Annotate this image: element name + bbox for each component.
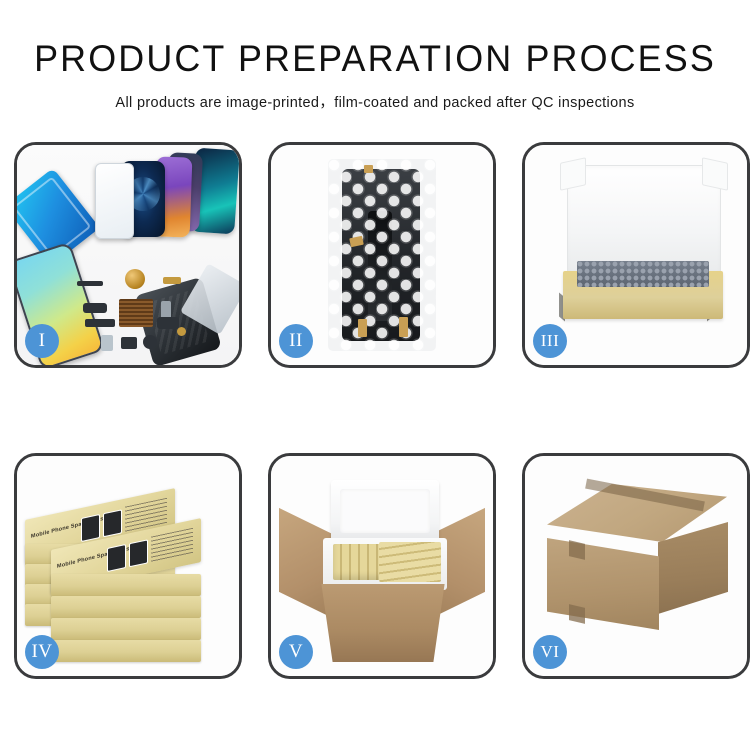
step-badge-3: III bbox=[533, 324, 567, 358]
process-step-grid: I II III bbox=[14, 142, 736, 679]
step-badge-4: IV bbox=[25, 635, 59, 669]
process-step-panel-4: Mobile Phone Spare Parts Mobile Phone Sp… bbox=[14, 453, 242, 679]
retail-box-edge bbox=[51, 596, 201, 618]
step-2-illustration: II bbox=[271, 145, 493, 365]
box-label-spec-lines bbox=[151, 528, 193, 563]
step-4-illustration: Mobile Phone Spare Parts Mobile Phone Sp… bbox=[17, 456, 239, 676]
page-title: PRODUCT PREPARATION PROCESS bbox=[11, 0, 739, 77]
step-1-illustration: I bbox=[17, 145, 239, 365]
step-3-illustration: III bbox=[525, 145, 747, 365]
sim-tray-part-icon bbox=[101, 335, 113, 351]
foam-box-lid-image bbox=[331, 480, 439, 542]
step-badge-5: V bbox=[279, 635, 313, 669]
carton-front-face-image bbox=[547, 538, 659, 630]
page-header: PRODUCT PREPARATION PROCESS All products… bbox=[0, 0, 750, 112]
step-badge-1: I bbox=[25, 324, 59, 358]
process-step-panel-5: V bbox=[268, 453, 496, 679]
home-button-part-icon bbox=[143, 335, 157, 349]
grey-bubble-foam-image bbox=[577, 261, 709, 287]
vibrator-part-icon bbox=[157, 317, 179, 329]
kraft-box-tray-image bbox=[563, 271, 723, 319]
retail-box-edge bbox=[51, 574, 201, 596]
gold-coil-part-icon bbox=[125, 269, 145, 289]
camera-module-part-icon bbox=[83, 303, 107, 313]
process-step-panel-6: VI bbox=[522, 453, 750, 679]
gold-bracket-part-icon bbox=[163, 277, 181, 284]
glass-screen-protector-image bbox=[95, 163, 134, 239]
retail-box-edge bbox=[51, 618, 201, 640]
box-label-phone-image-a bbox=[81, 514, 100, 542]
process-step-panel-1: I bbox=[14, 142, 242, 368]
step-badge-2: II bbox=[279, 324, 313, 358]
chip-board-part-icon bbox=[119, 299, 153, 327]
step-6-illustration: VI bbox=[525, 456, 747, 676]
retail-box-stack-image: Mobile Phone Spare Parts Mobile Phone Sp… bbox=[25, 478, 235, 660]
bubble-wrap-bag-image bbox=[328, 159, 436, 351]
box-label-phone-image-b bbox=[103, 509, 122, 537]
flex-cable-part-icon bbox=[85, 319, 115, 327]
carton-tape-patch-icon bbox=[569, 540, 585, 560]
tape-piece-icon bbox=[399, 317, 408, 337]
box-label-phone-image-b bbox=[129, 539, 148, 567]
retail-box-edge bbox=[51, 640, 201, 662]
tape-piece-icon bbox=[358, 319, 367, 337]
bubble-texture bbox=[328, 159, 436, 351]
page-subtitle: All products are image-printed，film-coat… bbox=[0, 77, 750, 112]
screw-part-icon bbox=[177, 327, 186, 336]
flex-strip-part-icon bbox=[77, 281, 103, 286]
box-label-phone-image-a bbox=[107, 544, 126, 572]
shipping-carton-body-image bbox=[313, 584, 453, 662]
tape-piece-icon bbox=[364, 165, 373, 173]
process-step-panel-3: III bbox=[522, 142, 750, 368]
process-step-panel-2: II bbox=[268, 142, 496, 368]
button-part-icon bbox=[121, 337, 137, 349]
small-parts-cluster bbox=[77, 267, 207, 363]
packed-units-row-b bbox=[379, 542, 441, 582]
step-badge-6: VI bbox=[533, 635, 567, 669]
step-5-illustration: V bbox=[271, 456, 493, 676]
carton-tape-patch-icon bbox=[569, 604, 585, 624]
